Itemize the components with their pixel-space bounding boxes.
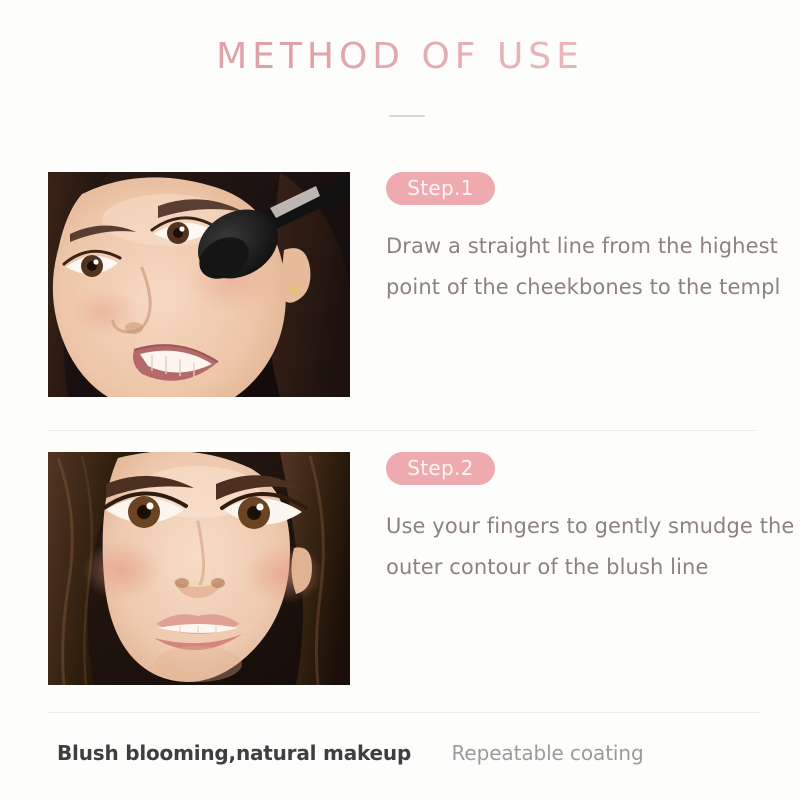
method-of-use-panel: METHOD OF USE (0, 0, 800, 800)
divider-above-footer (48, 712, 760, 713)
step-1-description: Draw a straight line from the highest po… (386, 226, 800, 308)
step-2-description-line-2: outer contour of the blush line (386, 547, 800, 588)
step-1-text: Step.1 Draw a straight line from the hig… (386, 172, 800, 308)
step-2-text: Step.2 Use your fingers to gently smudge… (386, 452, 800, 588)
footer-secondary-label: Repeatable coating (452, 741, 644, 765)
step-2-description: Use your fingers to gently smudge the ou… (386, 506, 800, 588)
step-1-description-line-2: point of the cheekbones to the templ (386, 267, 800, 308)
step-2-description-line-1: Use your fingers to gently smudge the (386, 506, 800, 547)
step-1-photo (48, 172, 350, 397)
footer-primary-label: Blush blooming,natural makeup (57, 741, 411, 765)
title-underline-rule (389, 115, 425, 117)
footer: Blush blooming,natural makeup Repeatable… (57, 741, 797, 765)
step-2-badge: Step.2 (386, 452, 495, 485)
step-1-description-line-1: Draw a straight line from the highest (386, 226, 800, 267)
divider-between-steps (48, 430, 756, 431)
page-title: METHOD OF USE (0, 36, 800, 77)
step-2-photo (48, 452, 350, 685)
step-1-badge: Step.1 (386, 172, 495, 205)
